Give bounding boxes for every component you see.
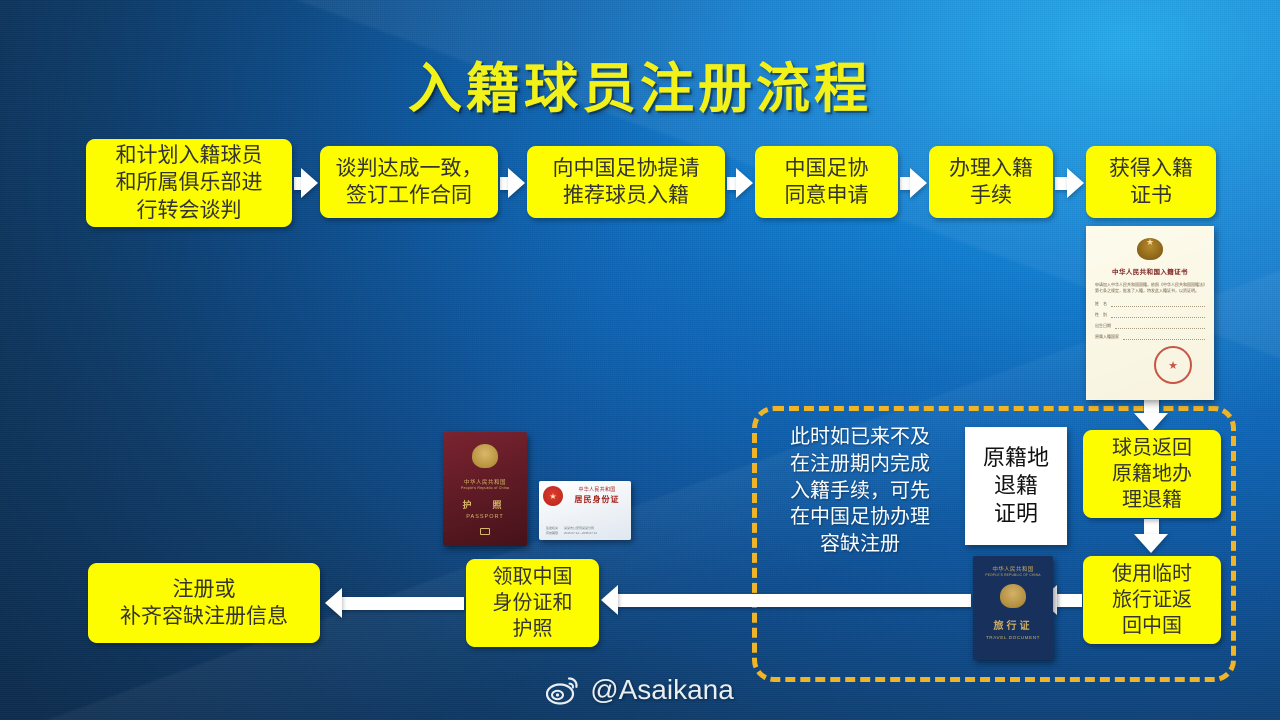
dashed-region-note: 此时如已来不及 在注册期内完成 入籍手续，可先 在中国足协办理 容缺注册 — [762, 424, 958, 558]
arrow-certificate-to-step7 — [1134, 398, 1168, 432]
field-rule — [1111, 303, 1205, 307]
arrow-traveldoc-to-step9 — [601, 585, 971, 615]
arrow-head — [601, 585, 618, 615]
flow-box-step-10[interactable]: 注册或 补齐容缺注册信息 — [88, 563, 320, 643]
chinese-passport-image: 中华人民共和国 People's Republic of China 护 照 P… — [443, 432, 527, 546]
arrow-step2-to-step3 — [500, 168, 525, 198]
travel-document-image: 中华人民共和国 PEOPLE'S REPUBLIC OF CHINA 旅行证 T… — [973, 556, 1053, 660]
national-emblem-icon: ★ — [543, 486, 563, 506]
page-title: 入籍球员注册流程 — [0, 44, 1280, 123]
certificate-title: 中华人民共和国入籍证书 — [1086, 266, 1214, 276]
arrow-step5-to-step6 — [1055, 168, 1084, 198]
red-seal-icon — [1154, 346, 1192, 384]
travel-doc-line-2: PEOPLE'S REPUBLIC OF CHINA — [985, 573, 1040, 577]
arrow-head — [301, 168, 318, 198]
flow-box-step-1[interactable]: 和计划入籍球员 和所属俱乐部进 行转会谈判 — [86, 139, 292, 227]
certificate-body: 申请加入中华人民共和国国籍，依照《中华人民共和国国籍法》第七条之规定，批准了入籍… — [1095, 282, 1205, 294]
arrow-shaft — [342, 597, 464, 610]
arrow-step1-to-step2 — [294, 168, 318, 198]
flow-box-step-3[interactable]: 向中国足协提请 推荐球员入籍 — [527, 146, 725, 218]
certificate-field: 出生日期 — [1095, 323, 1205, 329]
id-card-line-1: 中华人民共和国 — [567, 486, 627, 493]
flow-box-step-6[interactable]: 获得入籍 证书 — [1086, 146, 1216, 218]
arrow-head — [1134, 534, 1168, 553]
arrow-step3-to-step4 — [727, 168, 753, 198]
arrow-shaft — [1057, 594, 1082, 607]
arrow-shaft — [294, 177, 301, 190]
certificate-field: 原属入籍国家 — [1095, 334, 1205, 340]
naturalization-certificate-image: 中华人民共和国入籍证书 申请加入中华人民共和国国籍，依照《中华人民共和国国籍法》… — [1086, 226, 1214, 400]
travel-doc-line-3: 旅行证 — [994, 617, 1033, 632]
flow-box-step-7[interactable]: 球员返回 原籍地办 理退籍 — [1083, 430, 1221, 518]
infographic-canvas: 入籍球员注册流程 此时如已来不及 在注册期内完成 入籍手续，可先 在中国足协办理… — [0, 0, 1280, 720]
repatriation-certificate-card: 原籍地 退籍 证明 — [965, 427, 1067, 545]
field-rule — [1123, 336, 1205, 340]
certificate-field: 姓 名 — [1095, 301, 1205, 307]
passport-line-2: People's Republic of China — [461, 486, 509, 490]
arrow-head — [325, 588, 342, 618]
watermark: @Asaikana — [0, 674, 1280, 706]
arrow-shaft — [1144, 398, 1159, 413]
arrow-step4-to-step5 — [900, 168, 927, 198]
watermark-handle: @Asaikana — [590, 674, 734, 706]
arrow-head — [910, 168, 927, 198]
flow-box-step-8[interactable]: 使用临时 旅行证返 回中国 — [1083, 556, 1221, 644]
passport-line-4: PASSPORT — [466, 514, 503, 520]
flow-box-step-4[interactable]: 中国足协 同意申请 — [755, 146, 898, 218]
passport-line-1: 中华人民共和国 — [464, 478, 506, 486]
id-card-footer: 签发机关 某某市公安局某某分局 有效期限 2015.07.12－2035.07.… — [546, 526, 625, 536]
national-emblem-icon — [1000, 584, 1026, 608]
certificate-field: 性 别 — [1095, 312, 1205, 318]
travel-doc-line-4: TRAVEL DOCUMENT — [986, 635, 1040, 640]
national-emblem-icon — [472, 444, 498, 468]
weibo-icon — [546, 675, 580, 705]
arrow-shaft — [500, 177, 508, 190]
passport-line-3: 护 照 — [462, 498, 507, 511]
id-card-validity: 有效期限 2015.07.12－2035.07.12 — [546, 531, 625, 536]
biometric-chip-icon — [480, 528, 490, 535]
arrow-shaft — [727, 177, 736, 190]
arrow-shaft — [900, 177, 910, 190]
arrow-head — [508, 168, 525, 198]
arrow-head — [736, 168, 753, 198]
arrow-shaft — [618, 594, 971, 607]
national-emblem-icon — [1137, 238, 1163, 260]
chinese-id-card-image: ★ 中华人民共和国 居民身份证 签发机关 某某市公安局某某分局 有效期限 201… — [539, 481, 631, 540]
certificate-fields: 姓 名 性 别 出生日期 原属入籍国家 — [1095, 301, 1205, 340]
arrow-head — [1067, 168, 1084, 198]
id-card-line-2: 居民身份证 — [567, 494, 627, 505]
flow-box-step-9[interactable]: 领取中国 身份证和 护照 — [466, 559, 599, 647]
flow-box-step-5[interactable]: 办理入籍 手续 — [929, 146, 1053, 218]
arrow-step9-to-step10 — [325, 588, 464, 618]
arrow-step7-to-step8 — [1134, 519, 1168, 553]
field-rule — [1111, 314, 1205, 318]
travel-doc-line-1: 中华人民共和国 — [992, 565, 1033, 573]
field-rule — [1115, 325, 1205, 329]
arrow-shaft — [1144, 519, 1159, 534]
arrow-shaft — [1055, 177, 1067, 190]
flow-box-step-2[interactable]: 谈判达成一致， 签订工作合同 — [320, 146, 498, 218]
